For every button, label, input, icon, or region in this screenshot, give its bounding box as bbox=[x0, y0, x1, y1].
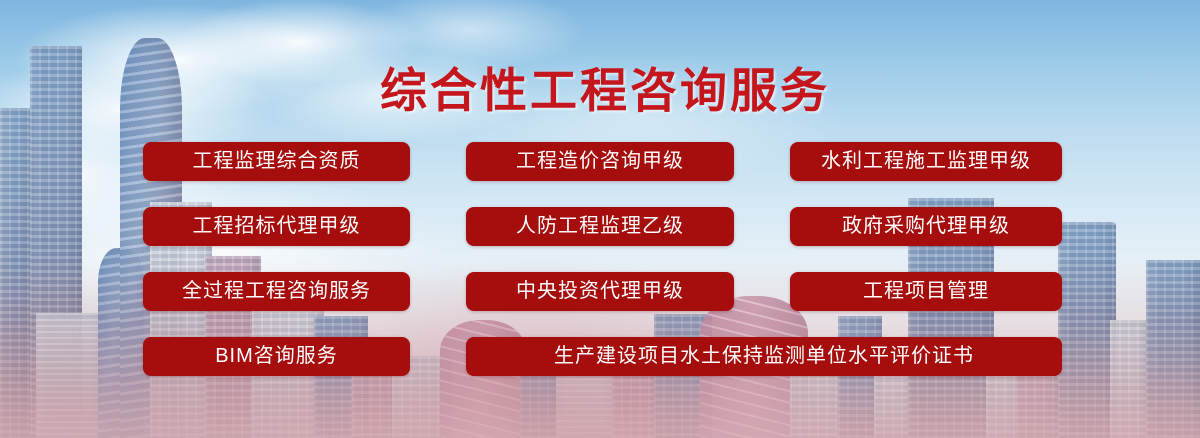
badge-engineering-bidding-agency-grade-a[interactable]: 工程招标代理甲级 bbox=[143, 207, 410, 246]
qualification-badge-grid: 工程监理综合资质 工程造价咨询甲级 水利工程施工监理甲级 工程招标代理甲级 人防… bbox=[143, 142, 1063, 376]
page-title: 综合性工程咨询服务 bbox=[0, 52, 1200, 121]
badge-engineering-project-management[interactable]: 工程项目管理 bbox=[790, 272, 1062, 311]
badge-row: BIM咨询服务 生产建设项目水土保持监测单位水平评价证书 bbox=[143, 337, 1063, 376]
badge-whole-process-engineering-consulting[interactable]: 全过程工程咨询服务 bbox=[143, 272, 410, 311]
badge-soil-water-conservation-monitoring-certificate[interactable]: 生产建设项目水土保持监测单位水平评价证书 bbox=[466, 337, 1062, 376]
qualification-banner: 综合性工程咨询服务 工程监理综合资质 工程造价咨询甲级 水利工程施工监理甲级 工… bbox=[0, 0, 1200, 438]
badge-civil-air-defense-supervision-grade-b[interactable]: 人防工程监理乙级 bbox=[466, 207, 734, 246]
badge-central-investment-agency-grade-a[interactable]: 中央投资代理甲级 bbox=[466, 272, 734, 311]
badge-government-procurement-agency-grade-a[interactable]: 政府采购代理甲级 bbox=[790, 207, 1062, 246]
badge-bim-consulting-service[interactable]: BIM咨询服务 bbox=[143, 337, 410, 376]
badge-row: 工程监理综合资质 工程造价咨询甲级 水利工程施工监理甲级 bbox=[143, 142, 1063, 181]
badge-engineering-supervision-comprehensive[interactable]: 工程监理综合资质 bbox=[143, 142, 410, 181]
badge-engineering-cost-consulting-grade-a[interactable]: 工程造价咨询甲级 bbox=[466, 142, 734, 181]
badge-water-conservancy-construction-supervision-grade-a[interactable]: 水利工程施工监理甲级 bbox=[790, 142, 1062, 181]
badge-row: 工程招标代理甲级 人防工程监理乙级 政府采购代理甲级 bbox=[143, 207, 1063, 246]
badge-row: 全过程工程咨询服务 中央投资代理甲级 工程项目管理 bbox=[143, 272, 1063, 311]
